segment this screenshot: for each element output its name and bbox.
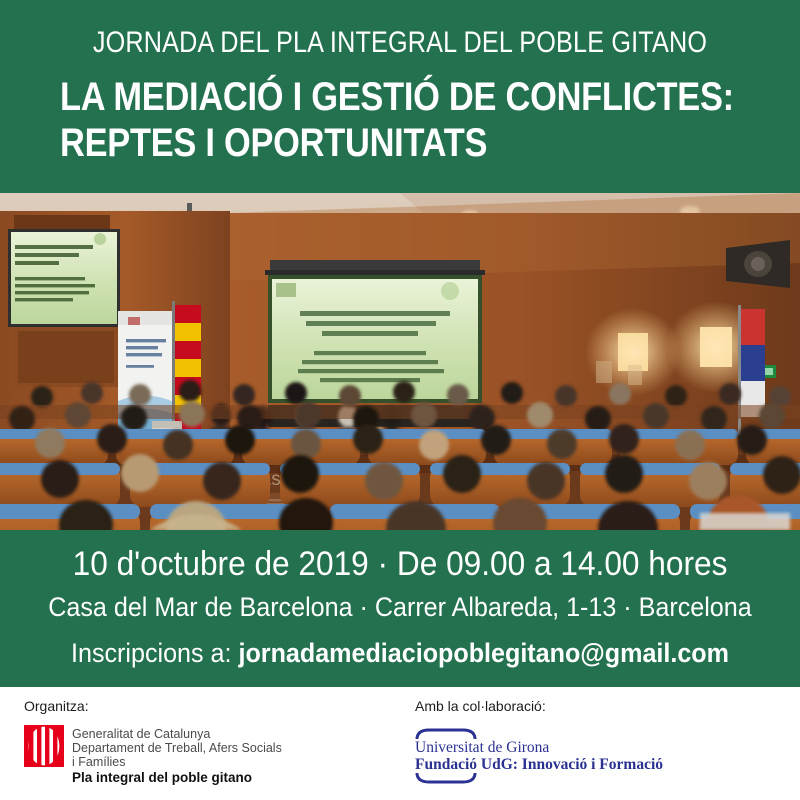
footer: Organitza: Generalitat de Catalunya D [0, 687, 800, 800]
udg-brace-bottom-icon [415, 773, 477, 784]
collaborator-block: Amb la col·laboració: Universitat de Gir… [415, 687, 685, 784]
organizer-block: Organitza: Generalitat de Catalunya D [24, 687, 282, 785]
auditorium-photo: Casa del Mar [0, 193, 800, 530]
event-date: 10 d'octubre de 2019 [73, 545, 369, 583]
udg-line-2: Fundació UdG: Innovació i Formació [415, 756, 685, 773]
page-title-line2: REPTES I OPORTUNITATS [60, 120, 679, 166]
auditorium-photo-graphic: Casa del Mar [0, 193, 800, 530]
udg-brace-top-icon [415, 728, 477, 739]
generalitat-text: Generalitat de Catalunya Departament de … [72, 725, 282, 785]
udg-line-1: Universitat de Girona [415, 739, 685, 756]
collaborator-label: Amb la col·laboració: [415, 698, 685, 714]
page-title-line1: LA MEDIACIÓ I GESTIÓ DE CONFLICTES: [60, 74, 679, 120]
gencat-line-2: Departament de Treball, Afers Socials [72, 741, 282, 755]
organizer-label: Organitza: [24, 698, 282, 714]
datetime-separator: · [378, 545, 389, 583]
gencat-line-1: Generalitat de Catalunya [72, 727, 210, 741]
page-title: LA MEDIACIÓ I GESTIÓ DE CONFLICTES: REPT… [60, 74, 780, 166]
registration-email[interactable]: jornadamediaciopoblegitano@gmail.com [238, 638, 729, 668]
event-datetime: 10 d'octubre de 2019 · De 09.00 a 14.00 … [28, 545, 772, 584]
udg-logo: Universitat de Girona Fundació UdG: Inno… [415, 728, 685, 784]
gencat-line-4: Pla integral del poble gitano [72, 771, 282, 785]
generalitat-logo: Generalitat de Catalunya Departament de … [24, 725, 282, 785]
event-time: De 09.00 a 14.00 hores [397, 545, 727, 583]
registration-line: Inscripcions a: jornadamediaciopoblegita… [28, 638, 772, 669]
poster-root: JORNADA DEL PLA INTEGRAL DEL POBLE GITAN… [0, 0, 800, 800]
event-kicker: JORNADA DEL PLA INTEGRAL DEL POBLE GITAN… [64, 26, 736, 60]
registration-label: Inscripcions a: [71, 638, 231, 668]
senyera-icon [24, 725, 64, 767]
event-venue: Casa del Mar de Barcelona · Carrer Albar… [28, 592, 772, 623]
gencat-line-3: i Famílies [72, 755, 125, 769]
